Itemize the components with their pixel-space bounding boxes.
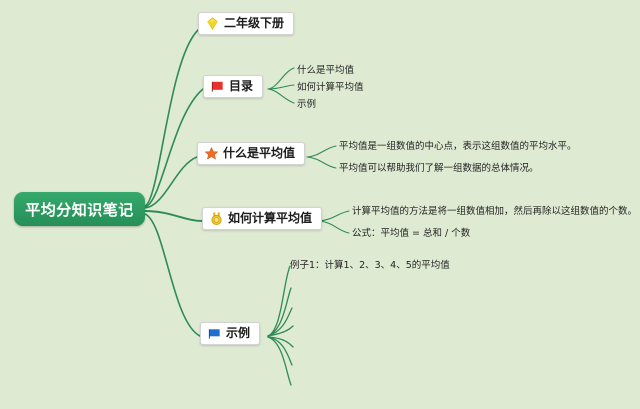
medal-icon [209,211,224,226]
topic-label-toc: 目录 [229,80,253,93]
edge-toc-0 [268,68,294,89]
blue-flag-icon [207,326,222,341]
topic-node-grade[interactable]: 二年级下册 [198,12,294,35]
leaf-item[interactable]: 平均值是一组数值的中心点，表示这组数值的平均水平。 [339,142,577,152]
topic-label-example: 示例 [226,327,250,340]
edge-root-toc [145,89,203,207]
mindmap-canvas: 平均分知识笔记 二年级下册 目录 什么是平均值 [0,0,640,409]
edge-toc-1 [268,85,294,89]
edge-example-0 [268,266,290,336]
leaf-item[interactable]: 例子1：计算1、2、3、4、5的平均值 [290,261,450,271]
edge-how-1 [319,221,349,233]
topic-node-toc[interactable]: 目录 [203,75,263,98]
topic-node-what[interactable]: 什么是平均值 [197,142,305,165]
edge-example-stub-5 [268,337,292,365]
edge-example-stub-1 [268,288,291,336]
star-icon [204,146,219,161]
topic-label-how: 如何计算平均值 [228,212,312,225]
edge-how-0 [319,211,349,221]
edge-root-example [145,214,200,336]
leaf-item[interactable]: 公式：平均值 = 总和 / 个数 [352,229,470,239]
edge-root-grade [145,30,198,206]
root-node[interactable]: 平均分知识笔记 [14,192,145,226]
topic-node-how[interactable]: 如何计算平均值 [202,207,322,230]
leaf-item[interactable]: 示例 [297,100,316,110]
edge-root-what [145,157,197,208]
edge-example-stub-6 [268,337,291,385]
edge-what-1 [307,157,336,168]
topic-label-what: 什么是平均值 [223,147,295,160]
root-label: 平均分知识笔记 [25,199,134,220]
red-flag-icon [210,79,225,94]
edge-example-stub-4 [268,337,293,347]
leaf-item[interactable]: 什么是平均值 [297,66,354,76]
leaf-item[interactable]: 如何计算平均值 [297,83,364,93]
leaf-item[interactable]: 平均值可以帮助我们了解一组数据的总体情况。 [339,164,539,174]
gem-icon [205,16,220,31]
leaf-item[interactable]: 计算平均值的方法是将一组数值相加，然后再除以这组数值的个数。 [352,207,637,217]
edge-toc-2 [268,89,294,103]
edge-example-stub-3 [268,326,293,336]
edge-what-0 [307,146,336,157]
topic-label-grade: 二年级下册 [224,17,284,30]
topic-node-example[interactable]: 示例 [200,322,260,345]
edge-root-how [145,211,202,221]
edge-example-stub-2 [268,308,292,336]
